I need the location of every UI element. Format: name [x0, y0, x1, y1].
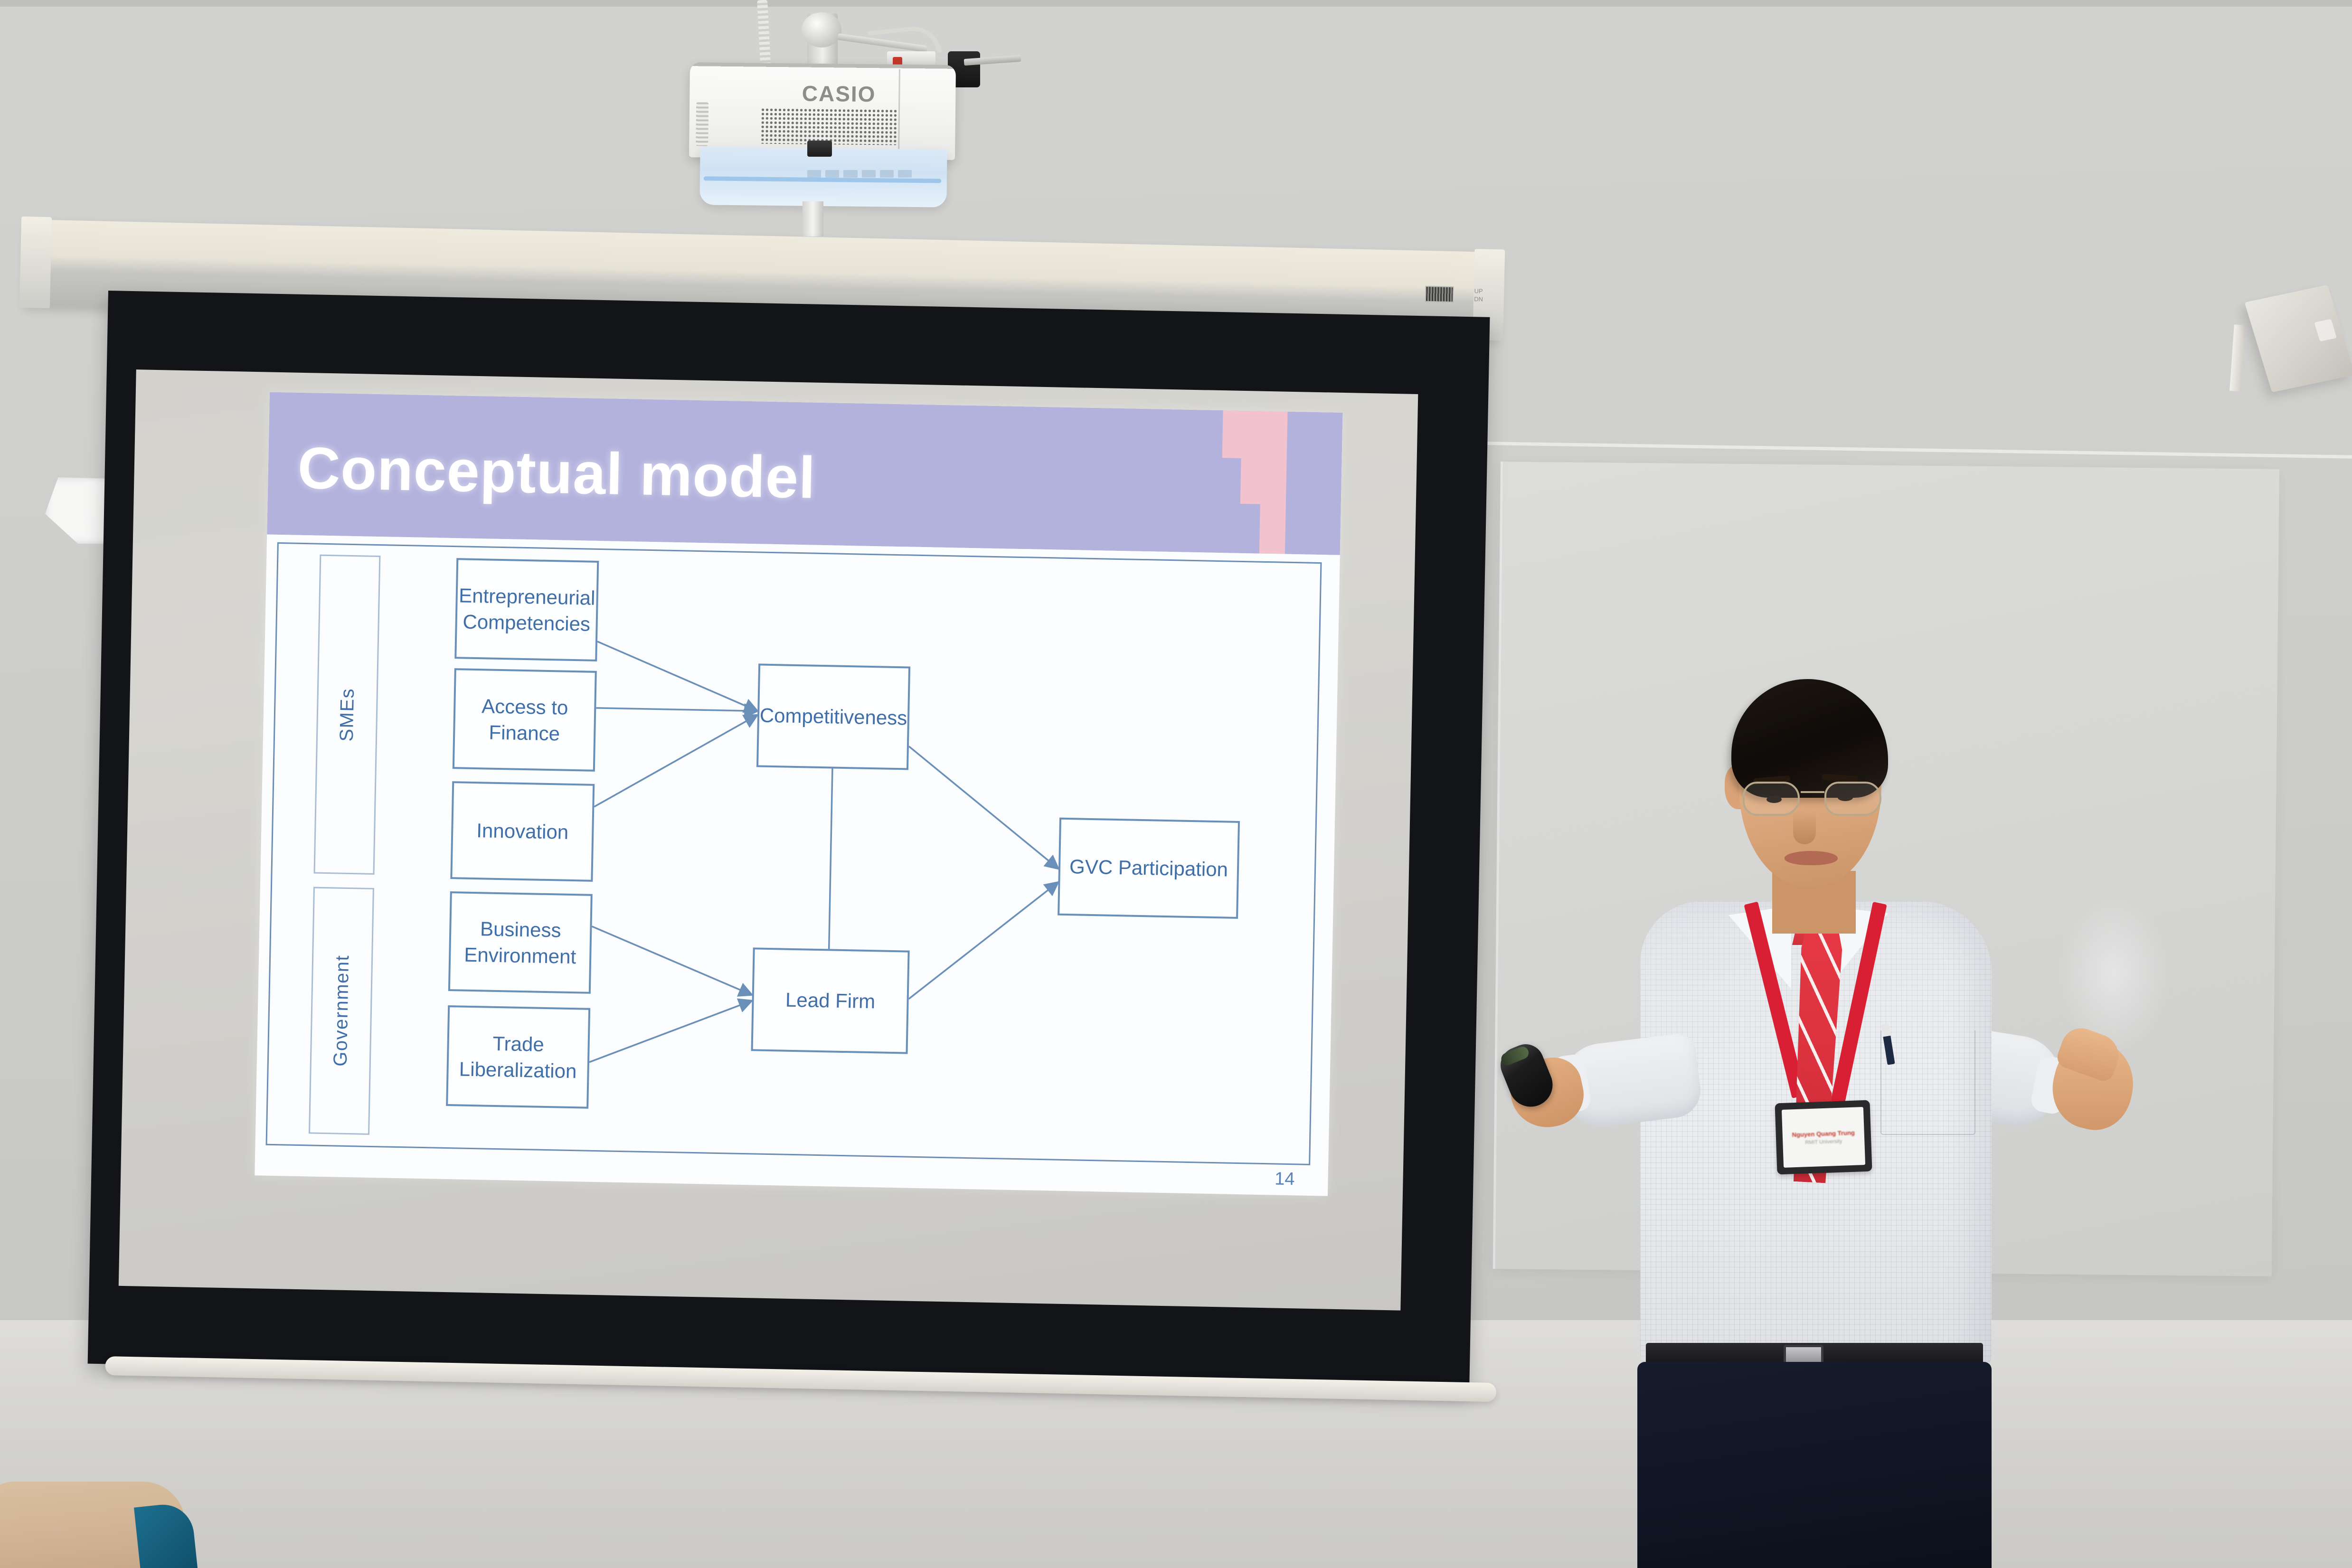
- housing-switch-icon[interactable]: [1425, 286, 1454, 302]
- node-lead-firm[interactable]: Lead Firm: [751, 947, 910, 1054]
- node-line-1: Access to Finance: [460, 692, 590, 747]
- projector-button-up-icon[interactable]: [862, 170, 876, 178]
- projector-button-menu-icon[interactable]: [843, 170, 857, 178]
- projector-lens-tab[interactable]: [807, 141, 832, 157]
- node-line-1: Trade: [459, 1030, 577, 1058]
- group-label-smes: SMEs: [336, 688, 358, 742]
- glasses-bridge: [1801, 791, 1824, 793]
- node-competitiveness[interactable]: Competitiveness: [756, 663, 910, 770]
- node-line-2: Environment: [464, 942, 576, 970]
- speaker-driver-icon: [2314, 319, 2337, 342]
- glasses-lens-left: [1743, 782, 1800, 816]
- node-line-1: Innovation: [476, 817, 569, 845]
- ceiling-edge: [0, 0, 2352, 7]
- lecture-room-scene: CASIO UP DN Conceptual model: [0, 0, 2352, 1568]
- housing-switch-label: UP DN: [1474, 287, 1483, 303]
- projector-side-vent-icon: [696, 102, 708, 146]
- node-line-1: Entrepreneurial: [459, 582, 595, 611]
- node-line-1: Business: [464, 915, 577, 944]
- node-entrepreneurial-competencies[interactable]: Entrepreneurial Competencies: [454, 558, 599, 661]
- projector-button-input-icon[interactable]: [825, 170, 839, 178]
- badge-name: Nguyen Quang Trung: [1792, 1129, 1855, 1138]
- slide-title: Conceptual model: [297, 435, 816, 512]
- projector-mount-knob: [802, 12, 841, 47]
- projector-control-buttons[interactable]: [807, 170, 912, 186]
- node-line-1: Competitiveness: [759, 702, 907, 731]
- projector-button-enter-icon[interactable]: [898, 170, 912, 178]
- name-badge-card: Nguyen Quang Trung RMIT University: [1782, 1107, 1865, 1168]
- group-government: Government: [309, 887, 374, 1135]
- group-label-government: Government: [330, 955, 353, 1067]
- node-line-1: Lead Firm: [785, 987, 876, 1015]
- housing-label-up: UP: [1474, 287, 1483, 295]
- projector-button-power-icon[interactable]: [807, 170, 821, 178]
- node-business-environment[interactable]: Business Environment: [448, 891, 593, 994]
- presenter: Nguyen Quang Trung RMIT University: [1558, 679, 2222, 1568]
- projector-button-down-icon[interactable]: [880, 170, 894, 178]
- node-access-to-finance[interactable]: Access to Finance: [453, 668, 597, 772]
- presenter-nose: [1793, 811, 1816, 844]
- slide-page-number: 14: [1275, 1169, 1295, 1190]
- name-badge: Nguyen Quang Trung RMIT University: [1775, 1100, 1872, 1175]
- presenter-mouth: [1785, 851, 1838, 865]
- node-line-2: Competencies: [458, 608, 595, 637]
- node-innovation[interactable]: Innovation: [450, 781, 595, 882]
- housing-endcap-left: [19, 217, 52, 308]
- projector-ceiling-stem: [803, 201, 823, 236]
- slide-decoration-step-2: [1240, 458, 1287, 505]
- presenter-shirt-pocket: [1880, 1030, 1975, 1135]
- slide-decoration-step-1: [1222, 410, 1288, 459]
- projector-light-field: Conceptual model: [119, 369, 1418, 1310]
- slide-header-band: Conceptual model: [267, 392, 1342, 555]
- presenter-trousers: [1637, 1362, 1992, 1568]
- node-trade-liberalization[interactable]: Trade Liberalization: [446, 1005, 590, 1109]
- presentation-slide: Conceptual model: [255, 392, 1342, 1196]
- node-line-1: GVC Participation: [1069, 853, 1228, 883]
- node-line-2: Liberalization: [459, 1056, 577, 1084]
- glasses-lens-right: [1824, 782, 1881, 816]
- projection-screen: Conceptual model: [88, 291, 1490, 1390]
- projector-body-seam: [898, 69, 900, 160]
- badge-affiliation: RMIT University: [1805, 1138, 1842, 1145]
- projector-vent-grille-icon: [760, 108, 898, 145]
- slide-body: SMEs Government Entrepreneurial Competen…: [255, 535, 1340, 1196]
- group-smes: SMEs: [314, 555, 381, 875]
- slide-decoration-step-3: [1259, 504, 1286, 554]
- projector-brand-label: CASIO: [802, 81, 876, 107]
- housing-label-down: DN: [1474, 295, 1483, 303]
- node-gvc-participation[interactable]: GVC Participation: [1058, 818, 1240, 919]
